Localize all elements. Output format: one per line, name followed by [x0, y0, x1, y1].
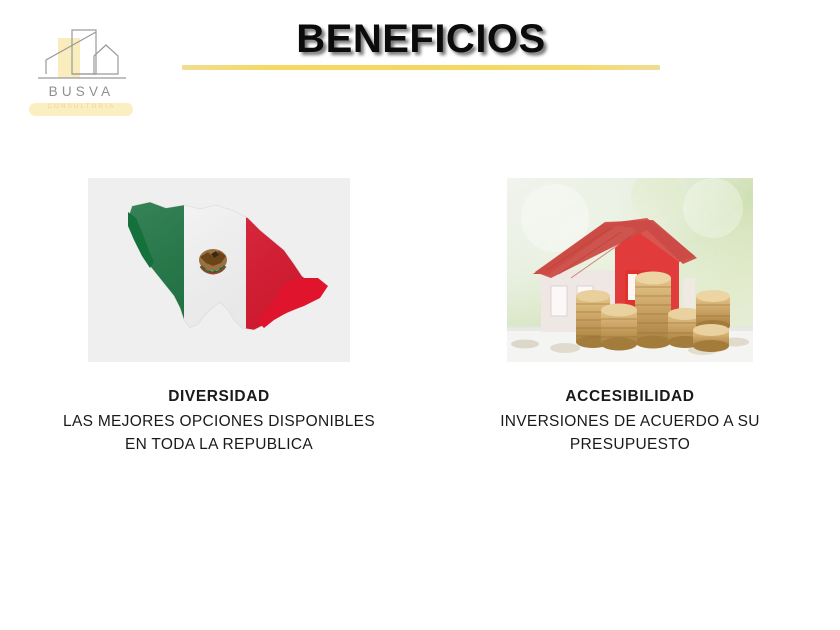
page-title: BENEFICIOS — [182, 17, 660, 62]
benefit-title: ACCESIBILIDAD — [455, 387, 805, 408]
slide-beneficios: BUSVA CONSULTORIA BENEFICIOS — [0, 0, 840, 630]
logo-wordmark: BUSVA — [24, 84, 139, 99]
benefit-caption-diversidad: DIVERSIDAD LAS MEJORES OPCIONES DISPONIB… — [14, 387, 424, 456]
benefit-title: DIVERSIDAD — [14, 387, 424, 408]
logo-tagline: CONSULTORIA — [24, 104, 139, 110]
house-and-coins-image — [507, 178, 753, 362]
benefit-body: INVERSIONES DE ACUERDO A SU PRESUPUESTO — [455, 410, 805, 457]
company-logo[interactable]: BUSVA CONSULTORIA — [24, 26, 139, 118]
building-outline-logo-icon — [32, 26, 132, 84]
mexico-map-flag-image — [88, 178, 350, 362]
title-underline-rule — [182, 65, 660, 70]
benefit-caption-accesibilidad: ACCESIBILIDAD INVERSIONES DE ACUERDO A S… — [455, 387, 805, 456]
benefit-body: LAS MEJORES OPCIONES DISPONIBLES EN TODA… — [14, 410, 424, 457]
benefit-column-diversidad: DIVERSIDAD LAS MEJORES OPCIONES DISPONIB… — [14, 178, 424, 456]
benefit-column-accesibilidad: ACCESIBILIDAD INVERSIONES DE ACUERDO A S… — [455, 178, 805, 456]
